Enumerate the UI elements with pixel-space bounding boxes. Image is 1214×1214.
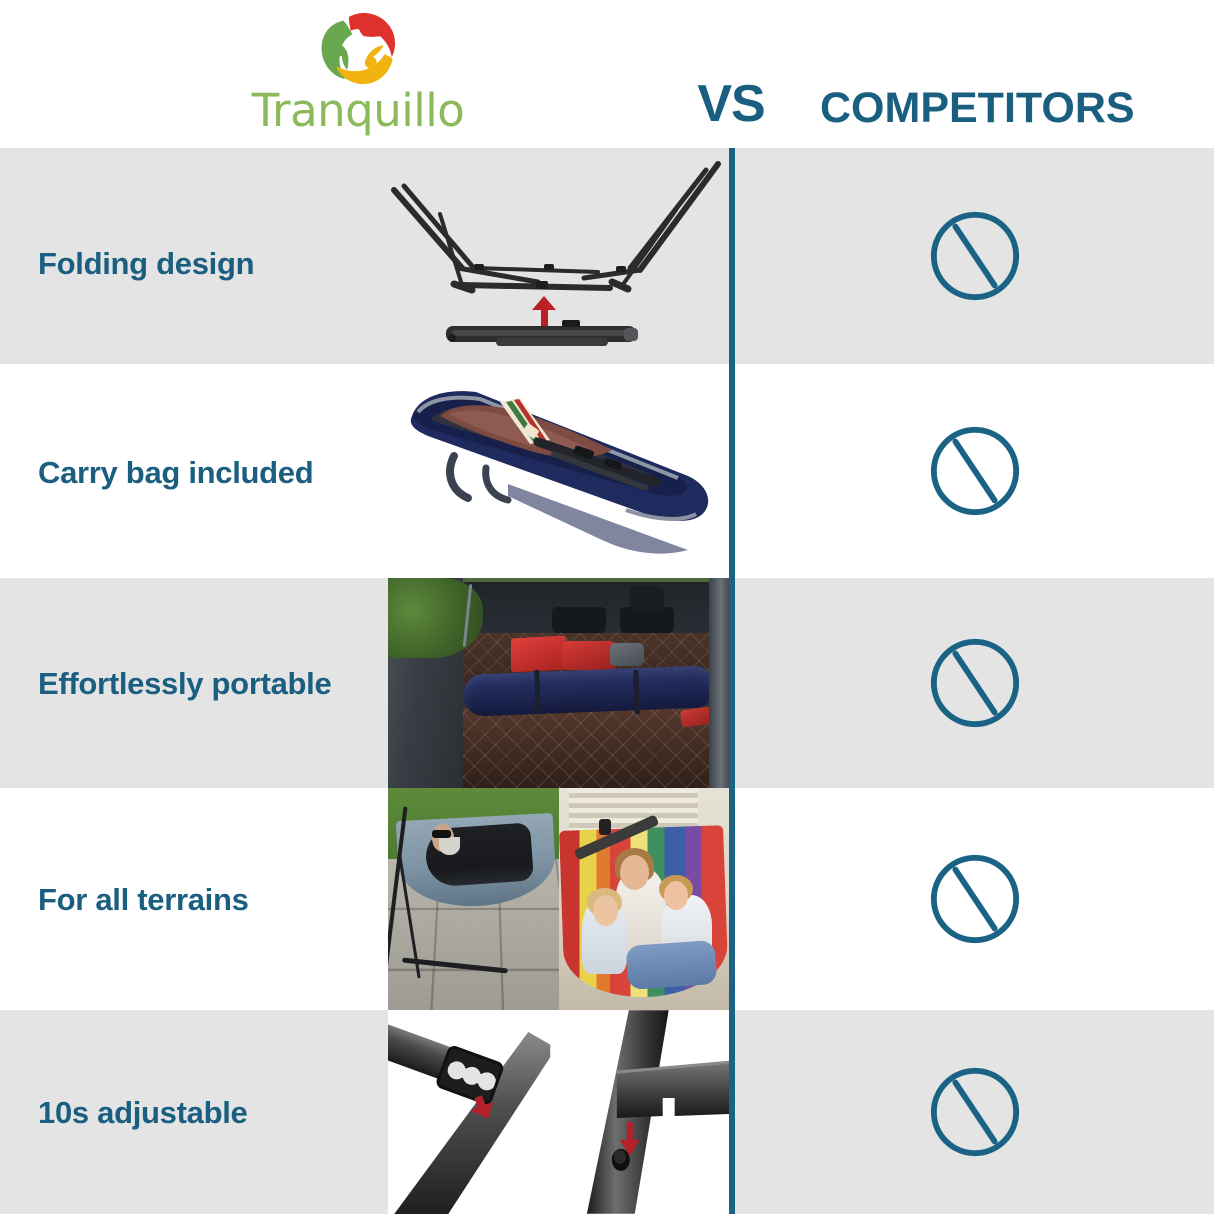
row-for-all-terrains: For all terrains [0,788,1214,1010]
no-sign-icon [926,1063,1024,1161]
row-folding-design: Folding design [0,148,1214,364]
competitor-cell [735,788,1214,1010]
grey-bag [610,643,644,666]
competitors-label: COMPETITORS [820,84,1180,133]
feature-label: Effortlessly portable [38,666,331,702]
car-door-edge [709,578,729,788]
car-trunk-photo [388,578,729,788]
vertical-divider [729,148,735,1214]
headrest [630,586,664,611]
bag-strap [633,670,640,714]
man-beard [439,837,459,855]
brand-name: Tranquillo [228,84,488,137]
terrains-photos [388,788,729,1010]
feature-label: For all terrains [38,882,249,918]
bag-strap [534,670,541,714]
feature-label: Folding design [38,246,254,282]
tranquillo-logo [312,6,404,90]
competitor-cell [735,578,1214,788]
adjuster-bracket-photo [388,1010,559,1214]
hammock-outdoor-photo [388,788,559,1010]
no-sign-icon [926,422,1024,520]
brand-block: Tranquillo [228,2,488,144]
feature-label: 10s adjustable [38,1095,247,1131]
hammock-indoor-photo [559,788,730,1010]
row-10s-adjustable: 10s adjustable [0,1010,1214,1214]
adjustment-detail-photos [388,1010,729,1214]
no-sign-icon [926,207,1024,305]
competitor-cell [735,148,1214,364]
comparison-chart: Tranquillo VS COMPETITORS Folding design [0,0,1214,1214]
row-effortlessly-portable: Effortlessly portable [0,578,1214,788]
no-sign-icon [926,850,1024,948]
feature-label: Carry bag included [38,455,313,491]
child-head-right [664,881,688,910]
locking-notch-photo [559,1010,730,1214]
competitor-cell [735,364,1214,578]
red-bag [562,641,617,670]
red-chair [511,635,566,671]
folding-hammock-stand-photo [388,148,729,364]
children-jeans [625,940,717,990]
hanging-hook [599,819,611,835]
rear-seat-left [552,607,607,632]
carry-bag-photo [388,364,729,578]
child-head-left [593,895,619,926]
mother-head [620,855,649,891]
no-sign-icon [926,634,1024,732]
vs-label: VS [676,74,786,134]
row-carry-bag: Carry bag included [0,364,1214,578]
header: Tranquillo VS COMPETITORS [0,0,1214,148]
sunglasses [432,830,451,838]
competitor-cell [735,1010,1214,1214]
